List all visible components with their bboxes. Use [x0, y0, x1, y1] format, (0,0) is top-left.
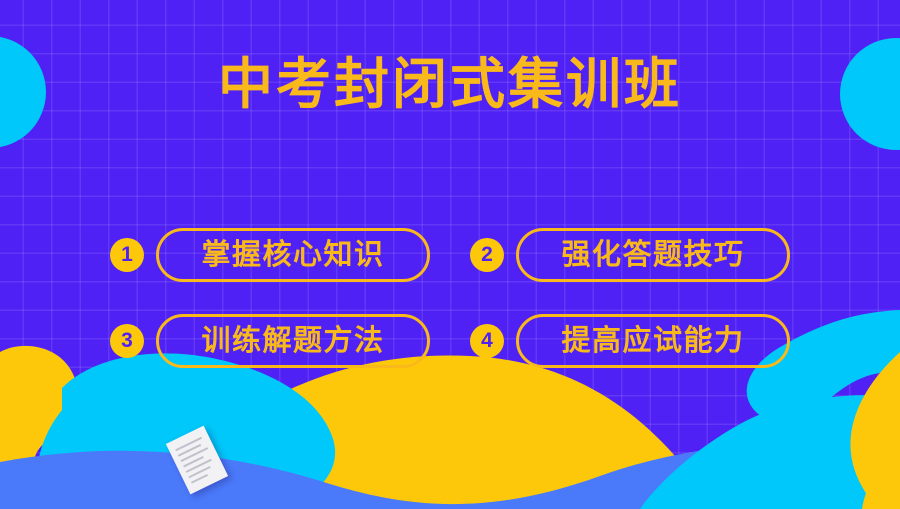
feature-number-badge-1: 1 [110, 238, 144, 272]
feature-label-pill-4[interactable]: 提高应试能力 [516, 314, 790, 368]
paper-sheet-icon [166, 426, 228, 495]
yellow-blob-bottom-right-lower [862, 448, 900, 509]
feature-label-pill-3[interactable]: 训练解题方法 [156, 314, 430, 368]
poster-title: 中考封闭式集训班 [0, 52, 900, 116]
feature-row: 3 训练解题方法 4 提高应试能力 [110, 314, 790, 368]
feature-item-2[interactable]: 2 强化答题技巧 [470, 228, 790, 282]
yellow-blob-bottom-left [0, 346, 705, 509]
feature-number-badge-3: 3 [110, 324, 144, 358]
feature-label-pill-2[interactable]: 强化答题技巧 [516, 228, 790, 282]
feature-number-badge-2: 2 [470, 238, 504, 272]
poster-banner: 中考封闭式集训班 1 掌握核心知识 2 强化答题技巧 3 训练解题方法 4 提高… [0, 0, 900, 509]
feature-item-3[interactable]: 3 训练解题方法 [110, 314, 430, 368]
feature-row: 1 掌握核心知识 2 强化答题技巧 [110, 228, 790, 282]
feature-item-4[interactable]: 4 提高应试能力 [470, 314, 790, 368]
blue-wave-bottom [0, 443, 900, 509]
feature-number-badge-4: 4 [470, 324, 504, 358]
yellow-blob-bottom-right [850, 352, 900, 509]
feature-label-pill-1[interactable]: 掌握核心知识 [156, 228, 430, 282]
feature-list: 1 掌握核心知识 2 强化答题技巧 3 训练解题方法 4 提高应试能力 [0, 228, 900, 368]
feature-item-1[interactable]: 1 掌握核心知识 [110, 228, 430, 282]
